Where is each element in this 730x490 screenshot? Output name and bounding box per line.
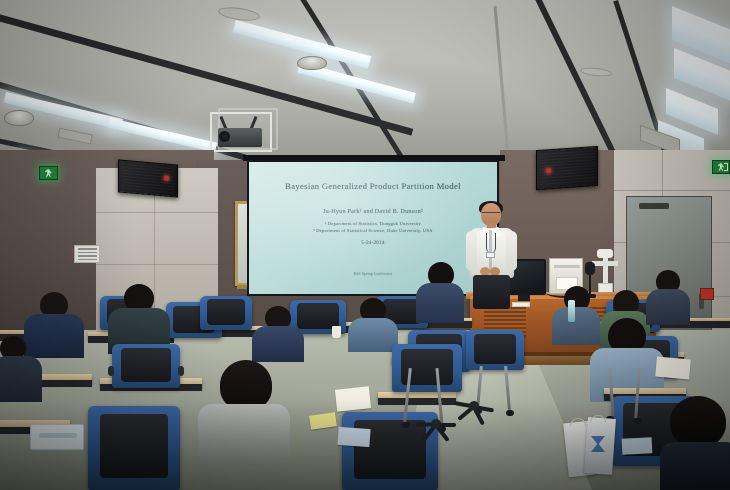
audience-member	[646, 270, 690, 322]
wall-speaker-right	[536, 146, 598, 190]
exit-sign-right	[712, 160, 730, 174]
chair-caster-base	[414, 418, 462, 432]
lecture-chair[interactable]	[112, 344, 180, 388]
lecture-chair[interactable]	[200, 296, 252, 330]
wall-notice-sign	[74, 245, 100, 263]
speaker-led-icon	[546, 168, 551, 173]
person-shoulders	[252, 326, 304, 362]
tissue-box-on-desk	[30, 424, 84, 450]
audience-member	[0, 336, 42, 400]
door-closer	[639, 203, 669, 209]
handout-paper	[622, 437, 653, 455]
water-bottle-on-desk	[568, 300, 575, 322]
person-shoulders	[348, 318, 398, 352]
handout-paper	[337, 427, 370, 447]
person-head	[220, 360, 272, 410]
presenter	[463, 203, 519, 308]
person-head	[670, 396, 726, 448]
person-shoulders	[660, 442, 730, 490]
person-shoulders	[198, 404, 290, 466]
ceiling-light	[108, 118, 217, 152]
paper-cup	[332, 326, 341, 338]
monitor-stand	[518, 294, 530, 301]
handout-paper	[655, 357, 691, 380]
smoke-detector	[297, 56, 327, 70]
ceiling-vent	[580, 66, 613, 77]
person-shoulders	[416, 283, 464, 323]
ceiling-projector	[210, 112, 272, 152]
audience-member	[252, 306, 304, 358]
chair-legs	[604, 368, 654, 422]
slide-title: Bayesian Generalized Product Partition M…	[249, 181, 497, 191]
glasses-icon	[482, 212, 500, 216]
optical-drive[interactable]	[554, 265, 580, 268]
ceiling-vent	[57, 128, 92, 145]
lanyard	[486, 233, 496, 253]
screen-glare	[249, 162, 414, 294]
handout-paper	[335, 386, 371, 411]
running-man-icon	[45, 169, 52, 176]
audience-member	[198, 360, 290, 460]
lecture-hall-photo: Bayesian Generalized Product Partition M…	[0, 0, 730, 490]
slide-date: 5-24-2014	[249, 240, 497, 246]
audience-member	[348, 298, 398, 348]
door-icon	[724, 163, 728, 171]
smoke-detector	[4, 110, 34, 126]
speaker-support-rod	[494, 6, 510, 154]
shopping-bag	[566, 418, 614, 476]
emergency-button[interactable]	[700, 288, 714, 300]
speaker-led-icon	[164, 175, 169, 180]
person-shoulders	[0, 356, 42, 402]
chair-caster-base	[452, 400, 500, 414]
slide-authors: Ju-Hyun Park¹ and David B. Dunson²	[249, 208, 497, 215]
lecture-chair[interactable]	[88, 406, 180, 490]
name-badge	[486, 252, 495, 258]
audience-member	[660, 396, 730, 490]
audience-member	[108, 284, 170, 350]
presenter-trousers	[473, 275, 510, 309]
slide-affiliation-2: ² Department of Statistical Science, Duk…	[249, 228, 497, 233]
lecture-chair[interactable]	[466, 330, 524, 370]
exit-sign-left	[39, 166, 58, 180]
projector-lens	[219, 131, 230, 142]
slide-affiliation-1: ¹ Department of Statistics, Dongguk Univ…	[249, 221, 497, 226]
audience-member	[416, 262, 464, 318]
wall-speaker-left	[118, 159, 178, 197]
